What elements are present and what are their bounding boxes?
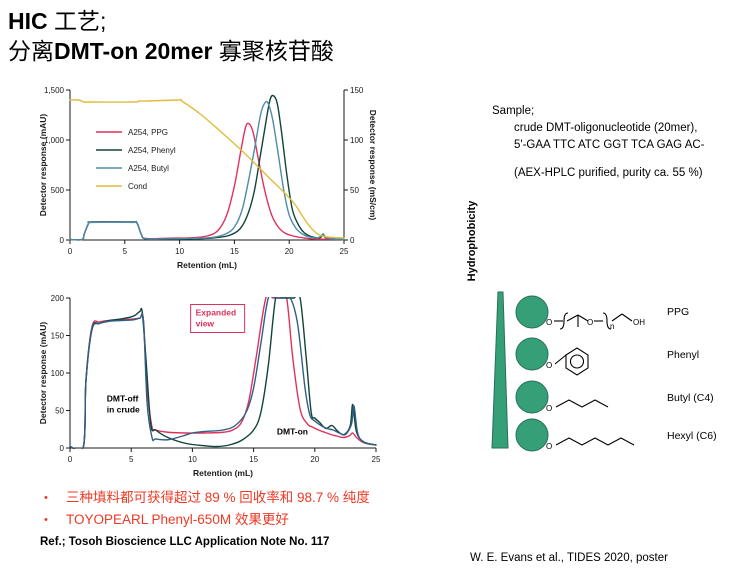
svg-text:Detector response (mS/cm): Detector response (mS/cm) [368,110,378,221]
svg-text:0: 0 [68,247,73,256]
ligand-label-hexyl: Hexyl (C6) [667,430,717,442]
butyl-oxygen-label: O [546,404,552,413]
hydrophobicity-triangle [492,292,508,448]
ligand-label-ppg: PPG [667,306,689,318]
butyl-structure [556,400,608,407]
svg-text:Detector response (mAU): Detector response (mAU) [38,322,48,425]
svg-text:Retention (mL): Retention (mL) [193,468,253,478]
bullet-text-1: 三种填料都可获得超过 89 % 回收率和 98.7 % 纯度 [66,487,474,509]
svg-text:0: 0 [60,444,65,453]
ppg-oh-label: OH [633,318,645,327]
bead-icon-butyl [516,381,548,413]
title-line2-a: 分离 [8,38,54,64]
ppg-oxygen-mid-label: O [587,318,593,327]
title-line-2: 分离DMT-on 20mer 寡聚核苷酸 [8,36,478,66]
svg-text:view: view [196,319,215,329]
sample-line-3: (AEX-HPLC purified, purity ca. 55 %) [492,165,742,182]
svg-text:DMT-on: DMT-on [277,427,308,437]
svg-text:150: 150 [350,86,364,95]
svg-text:100: 100 [350,136,364,145]
svg-text:15: 15 [249,455,258,464]
hexyl-structure [556,438,634,445]
ppg-n-subscript: n [610,322,614,331]
svg-text:20: 20 [310,455,319,464]
hexyl-oxygen-label: O [546,442,552,451]
bullet-text-2: TOYOPEARL Phenyl-650M 效果更好 [66,509,474,531]
ppg-oxygen-label: O [546,318,552,327]
svg-text:Detector response (mAU): Detector response (mAU) [38,114,48,217]
bead-icon-hexyl [516,419,548,451]
bullet-item-2: • TOYOPEARL Phenyl-650M 效果更好 [44,509,474,531]
svg-text:A254, PPG: A254, PPG [128,128,168,137]
svg-text:10: 10 [188,455,197,464]
credit-note: W. E. Evans et al., TIDES 2020, poster [470,552,668,564]
phenyl-structure [555,348,588,375]
conclusion-bullets: • 三种填料都可获得超过 89 % 回收率和 98.7 % 纯度 • TOYOP… [44,487,474,531]
bullet-item-1: • 三种填料都可获得超过 89 % 回收率和 98.7 % 纯度 [44,487,474,509]
svg-text:20: 20 [285,247,294,256]
page-title: HIC 工艺; 分离DMT-on 20mer 寡聚核苷酸 [8,6,478,66]
sample-line-1: crude DMT-oligonucleotide (20mer), [492,120,742,137]
svg-text:in crude: in crude [107,405,140,415]
chart-expanded-svg: 0510152025050100150200Retention (mL)Dete… [28,288,388,478]
bead-icon-ppg [516,296,548,328]
svg-text:100: 100 [51,369,65,378]
sample-description: Sample; crude DMT-oligonucleotide (20mer… [492,103,742,182]
chart-overview: 051015202505001,0001,500050100150Retenti… [28,80,388,270]
bullet-marker-1: • [44,487,66,509]
svg-text:0: 0 [68,455,73,464]
bullet-marker-2: • [44,509,66,531]
svg-text:50: 50 [350,186,359,195]
svg-text:5: 5 [123,247,128,256]
chart-overview-svg: 051015202505001,0001,500050100150Retenti… [28,80,388,270]
svg-text:Cond: Cond [128,182,147,191]
svg-text:0: 0 [350,236,355,245]
svg-text:25: 25 [340,247,349,256]
svg-text:A254, Butyl: A254, Butyl [128,164,169,173]
phenyl-oxygen-label: O [546,361,552,370]
title-line2-b: DMT-on 20mer [54,38,212,64]
title-hic: HIC [8,8,48,34]
chart-expanded: 0510152025050100150200Retention (mL)Dete… [28,288,388,478]
svg-text:500: 500 [51,186,65,195]
svg-text:200: 200 [51,294,65,303]
svg-text:5: 5 [129,455,134,464]
svg-text:A254, Phenyl: A254, Phenyl [128,146,176,155]
sample-heading: Sample; [492,103,742,120]
bead-icon-phenyl [516,338,548,370]
title-line1-rest: 工艺; [48,8,107,34]
ligand-label-butyl: Butyl (C4) [667,392,714,404]
svg-text:DMT-off: DMT-off [107,394,139,404]
svg-text:25: 25 [372,455,381,464]
title-line2-c: 寡聚核苷酸 [212,38,333,64]
svg-text:0: 0 [60,236,65,245]
ligand-label-phenyl: Phenyl [667,349,699,361]
title-line-1: HIC 工艺; [8,6,478,36]
reference-note: Ref.; Tosoh Bioscience LLC Application N… [40,536,329,548]
svg-text:1,500: 1,500 [44,86,65,95]
sample-spacer [492,154,742,165]
hydrophobicity-axis-label: Hydrophobicity [466,176,478,306]
sample-line-2: 5'-GAA TTC ATC GGT TCA GAG AC- [492,137,742,154]
ligand-diagram: Hydrophobicity O O n OH O [470,280,746,465]
svg-text:10: 10 [175,247,184,256]
svg-text:Expanded: Expanded [196,308,237,318]
svg-text:15: 15 [230,247,239,256]
svg-text:150: 150 [51,332,65,341]
svg-text:50: 50 [55,407,64,416]
svg-text:Retention (mL): Retention (mL) [177,260,237,270]
